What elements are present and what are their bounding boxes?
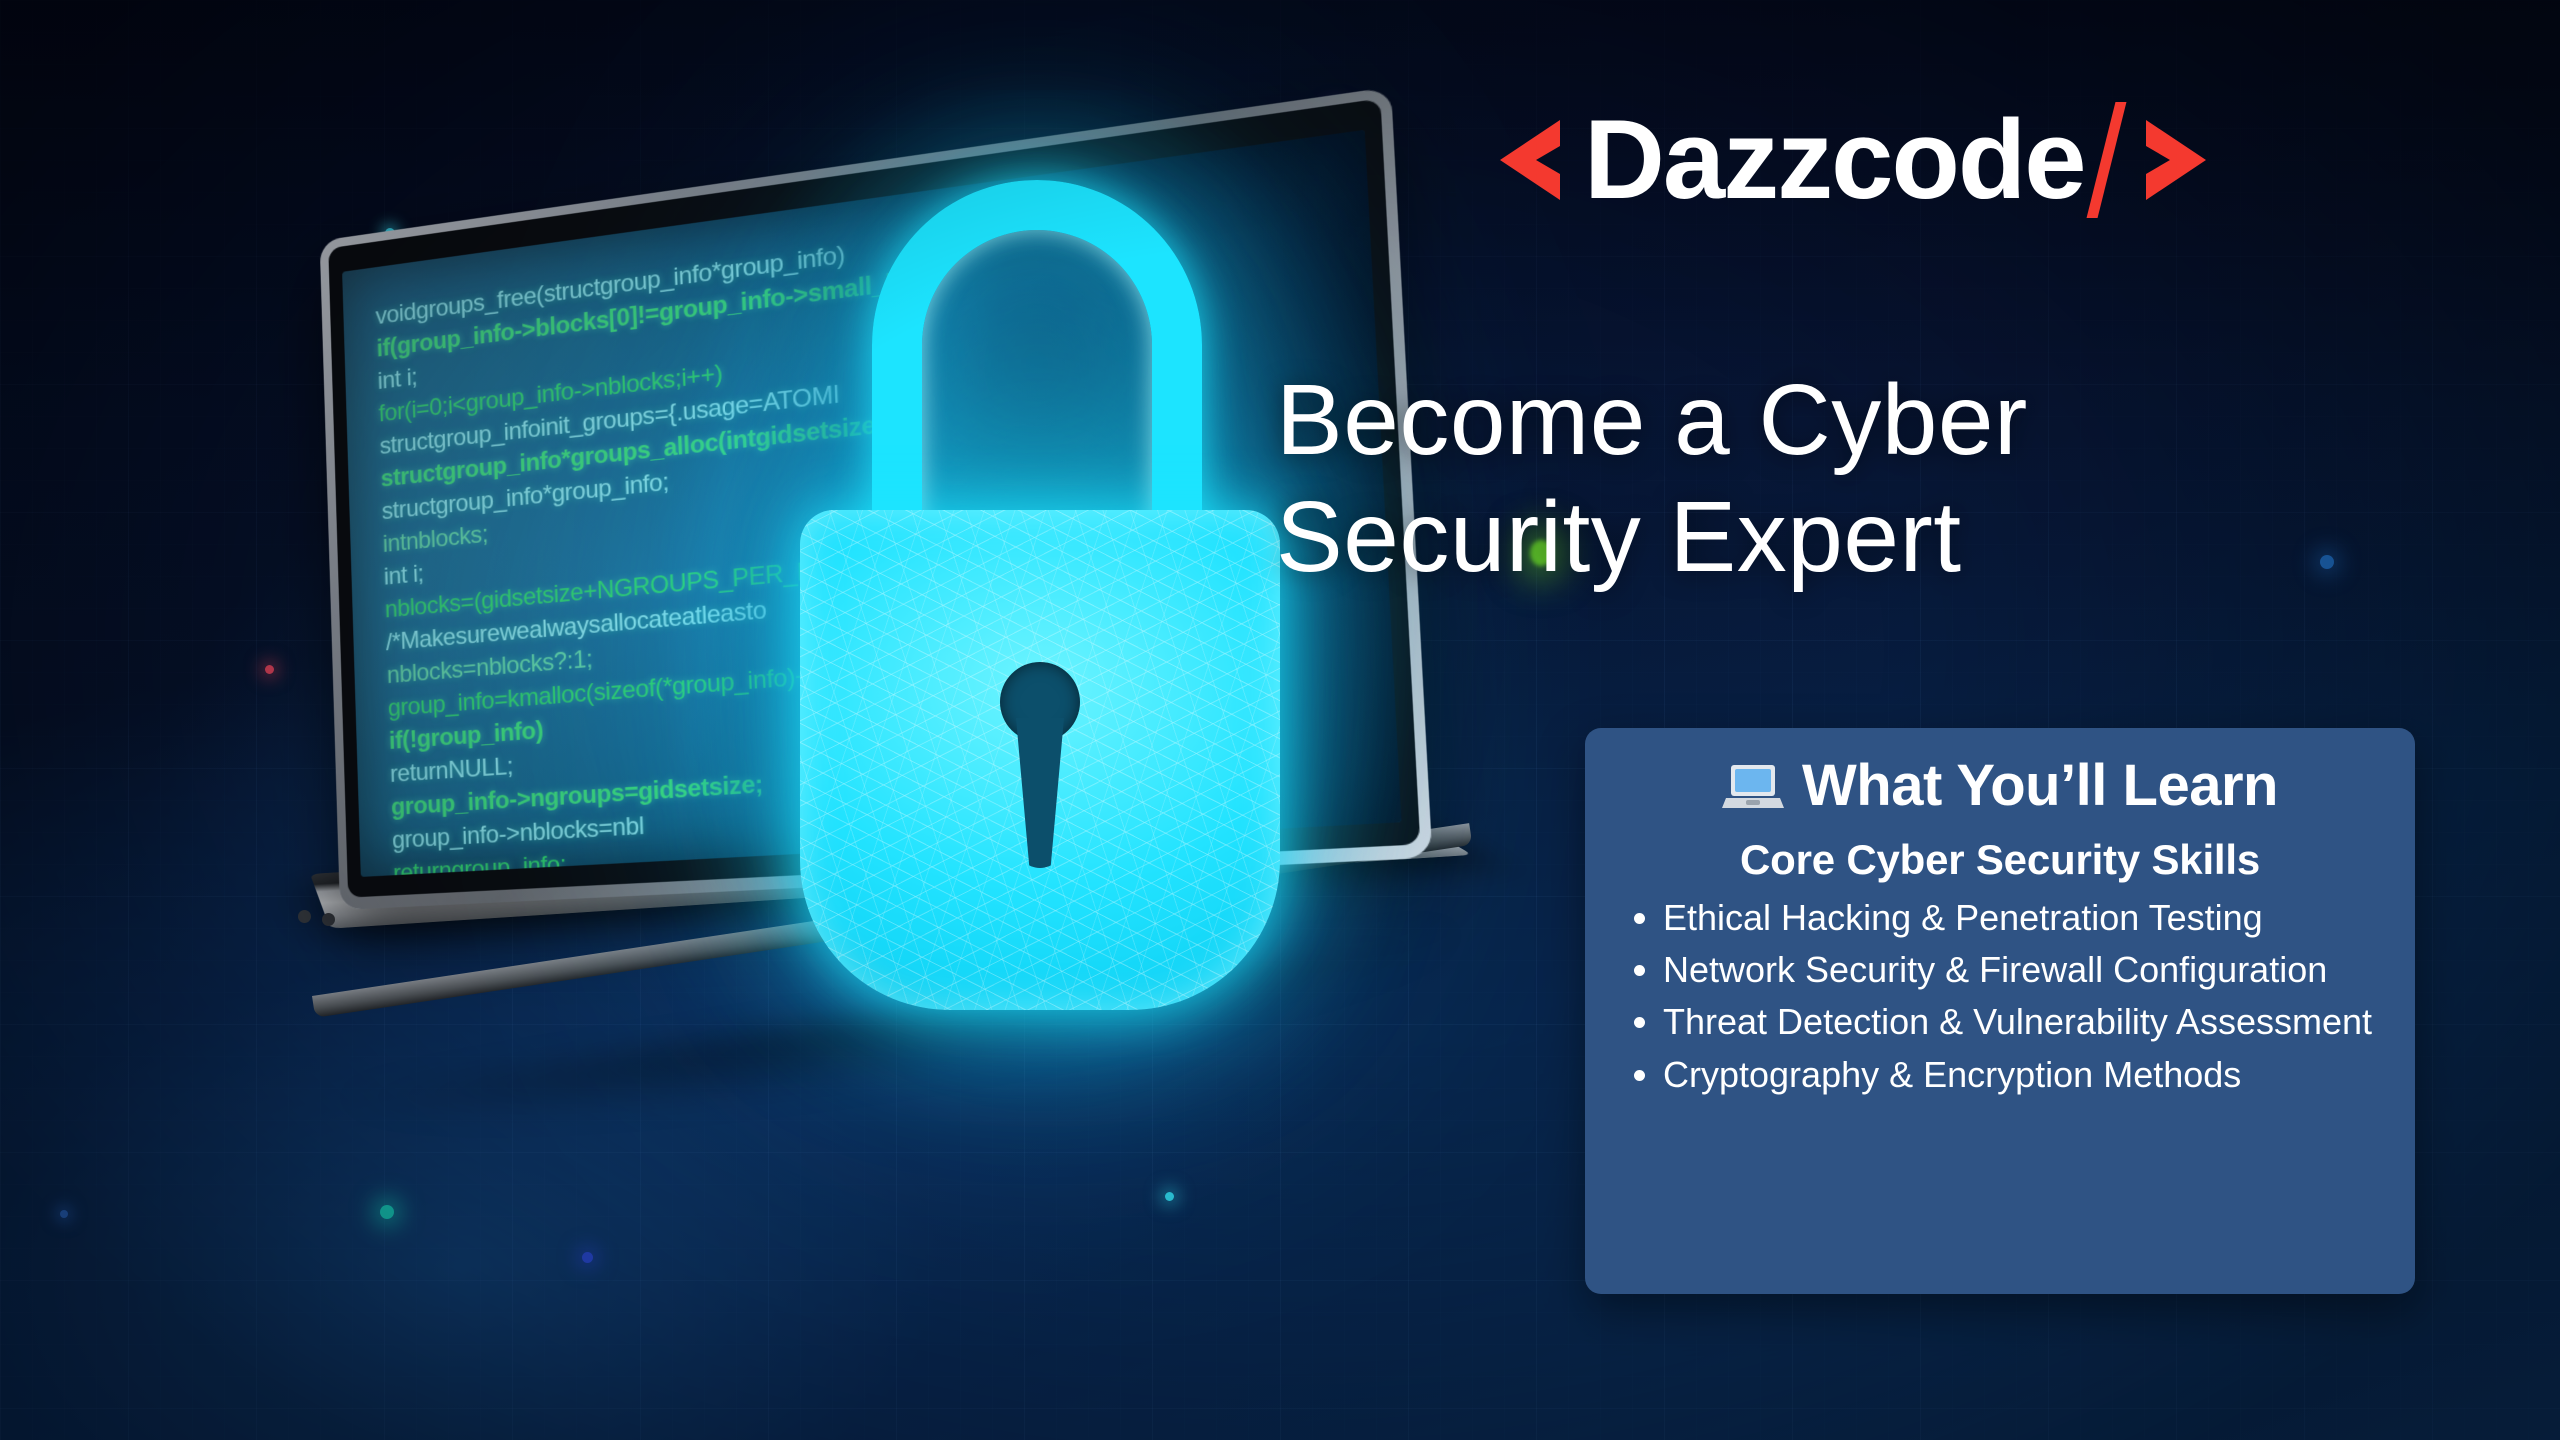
page-title: Become a Cyber Security Expert	[1276, 362, 2456, 596]
list-item: Threat Detection & Vulnerability Assessm…	[1663, 1002, 2385, 1042]
poster-canvas: voidgroups_free(structgroup_info*group_i…	[0, 0, 2560, 1440]
list-item: Network Security & Firewall Configuratio…	[1663, 950, 2385, 990]
what-you-will-learn-card: What You’ll Learn Core Cyber Security Sk…	[1585, 728, 2415, 1294]
laptop-icon	[1722, 761, 1784, 811]
list-item: Ethical Hacking & Penetration Testing	[1663, 898, 2385, 938]
brand-name: Dazzcode	[1584, 104, 2085, 216]
skills-list: Ethical Hacking & Penetration Testing Ne…	[1615, 898, 2385, 1095]
right-chevron-icon	[2138, 114, 2216, 206]
left-chevron-icon	[1490, 114, 1568, 206]
brand-logo[interactable]: Dazzcode	[1490, 105, 2216, 215]
list-item: Cryptography & Encryption Methods	[1663, 1055, 2385, 1095]
headline-line-1: Become a Cyber	[1276, 362, 2456, 479]
card-header: What You’ll Learn	[1615, 754, 2385, 818]
brand-slash	[2086, 102, 2126, 218]
card-title: What You’ll Learn	[1802, 754, 2278, 818]
card-subtitle: Core Cyber Security Skills	[1615, 836, 2385, 884]
headline-line-2: Security Expert	[1276, 479, 2456, 596]
